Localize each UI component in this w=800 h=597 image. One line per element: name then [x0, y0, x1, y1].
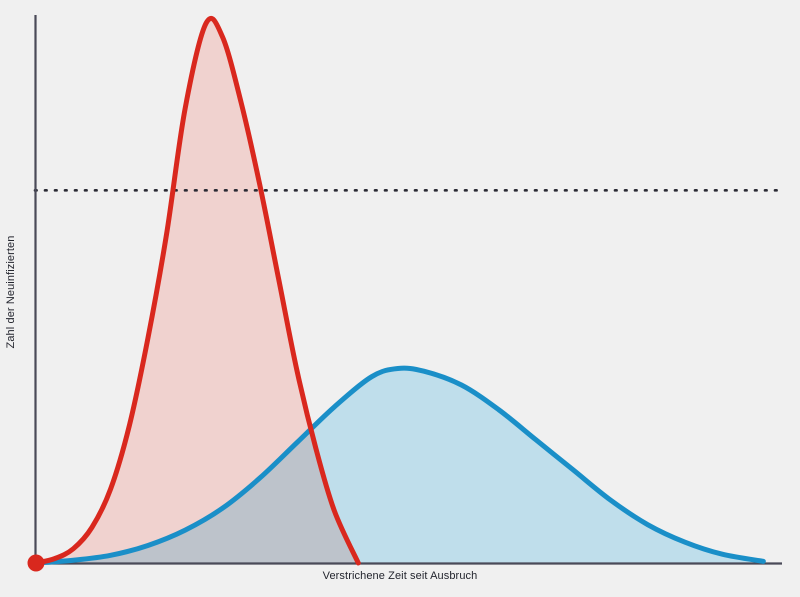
outbreak-start-marker — [28, 555, 45, 572]
epidemic-curve-chart: Zahl der Neuinfizierten Verstrichene Zei… — [0, 0, 800, 597]
chart-canvas — [0, 0, 800, 597]
x-axis-label-text: Verstrichene Zeit seit Ausbruch — [323, 570, 478, 582]
y-axis-label: Zahl der Neuinfizierten — [0, 212, 22, 372]
y-axis-label-text: Zahl der Neuinfizierten — [5, 236, 17, 349]
x-axis-label: Verstrichene Zeit seit Ausbruch — [0, 570, 800, 582]
